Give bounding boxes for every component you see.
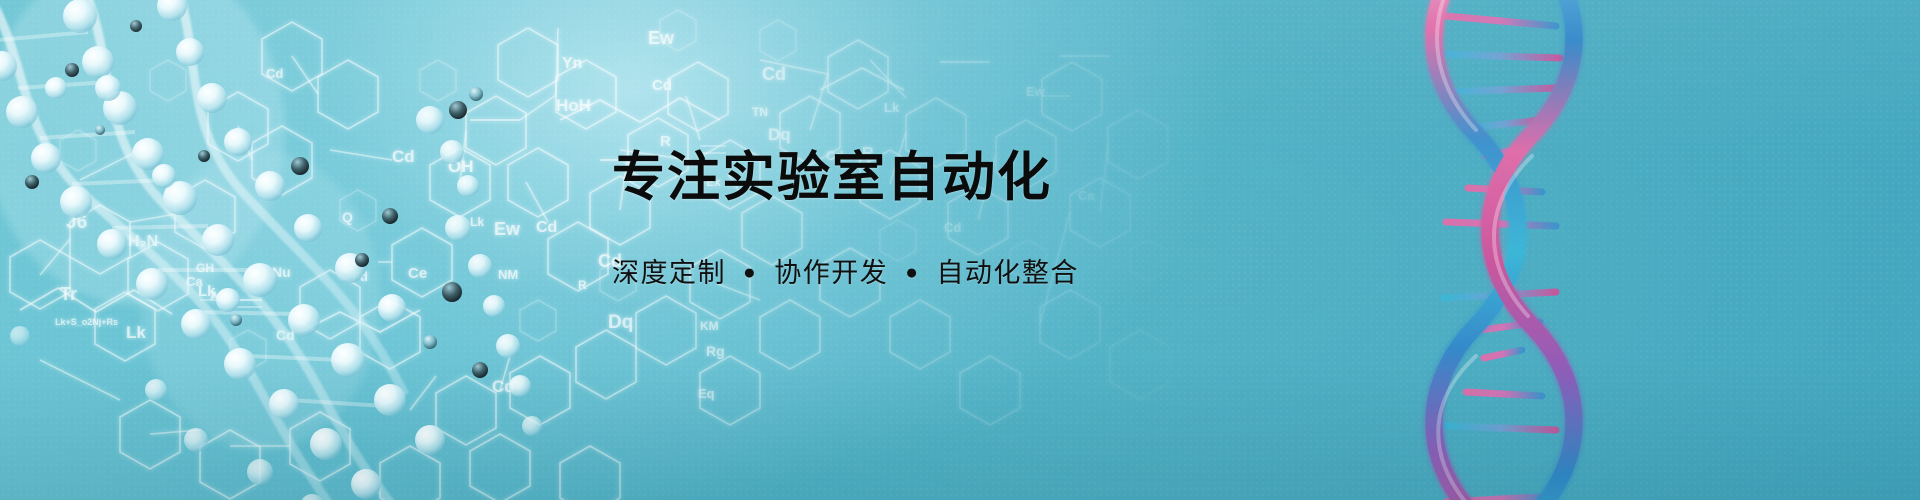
hero-banner: J6 H₂N Tr Lk Lk+S_o2Nj+Rs Ca GH Nu Fd Cd…	[0, 0, 1920, 500]
vignette-overlay	[0, 0, 1920, 500]
